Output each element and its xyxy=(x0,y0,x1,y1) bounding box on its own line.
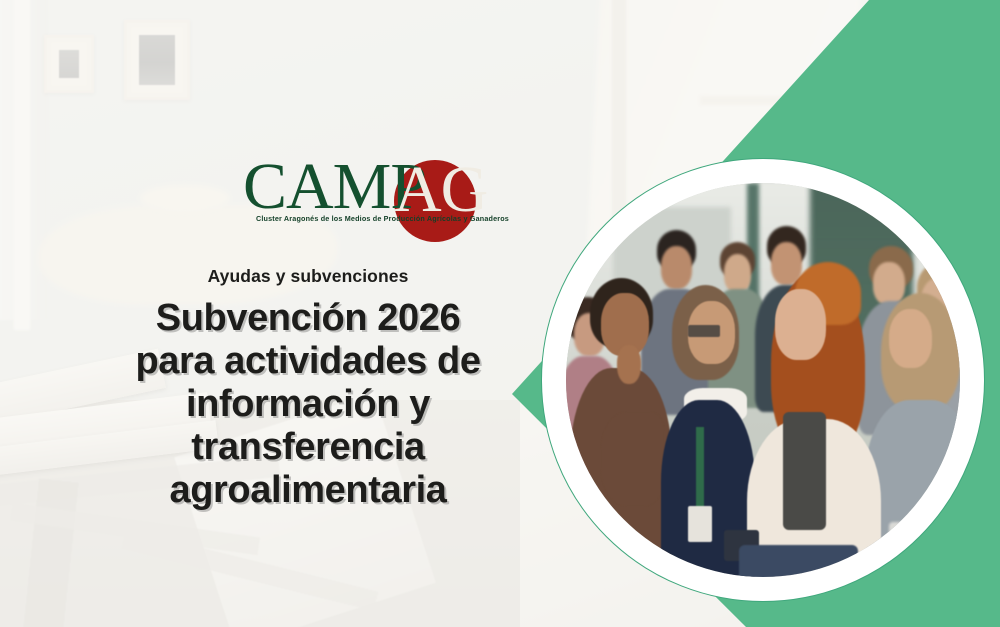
scene-chair xyxy=(889,522,960,569)
headline-line-4: transferencia xyxy=(108,426,508,469)
headline-line-1: Subvención 2026 xyxy=(108,297,508,340)
person-head xyxy=(873,262,905,305)
person-vest xyxy=(783,412,826,530)
headline-line-3: información y xyxy=(108,383,508,426)
headline-line-5: agroalimentaria xyxy=(108,469,508,512)
headline-line-2: para actividades de xyxy=(108,340,508,383)
person-head xyxy=(775,289,826,360)
person-lanyard xyxy=(696,427,704,514)
person-head xyxy=(661,246,693,289)
headline: Subvención 2026 para actividades de info… xyxy=(108,297,508,512)
person-hand xyxy=(617,345,641,384)
person-glasses xyxy=(688,325,720,337)
person-head xyxy=(724,254,752,293)
eyebrow-label: Ayudas y subvenciones xyxy=(108,266,508,287)
copy-block: Ayudas y subvenciones Subvención 2026 pa… xyxy=(108,266,508,512)
person-badge xyxy=(688,506,712,541)
person-arm xyxy=(601,412,664,507)
banner-root: CAMP AG Cluster Aragonés de los Medios d… xyxy=(0,0,1000,627)
logo-tagline: Cluster Aragonés de los Medios de Produc… xyxy=(256,214,488,223)
circle-photo xyxy=(566,183,960,577)
scene-lap xyxy=(739,545,857,577)
person-head xyxy=(889,309,932,368)
audience-scene xyxy=(566,183,960,577)
circle-photo-frame xyxy=(541,158,985,602)
campag-logo[interactable]: CAMP AG Cluster Aragonés de los Medios d… xyxy=(243,158,503,236)
